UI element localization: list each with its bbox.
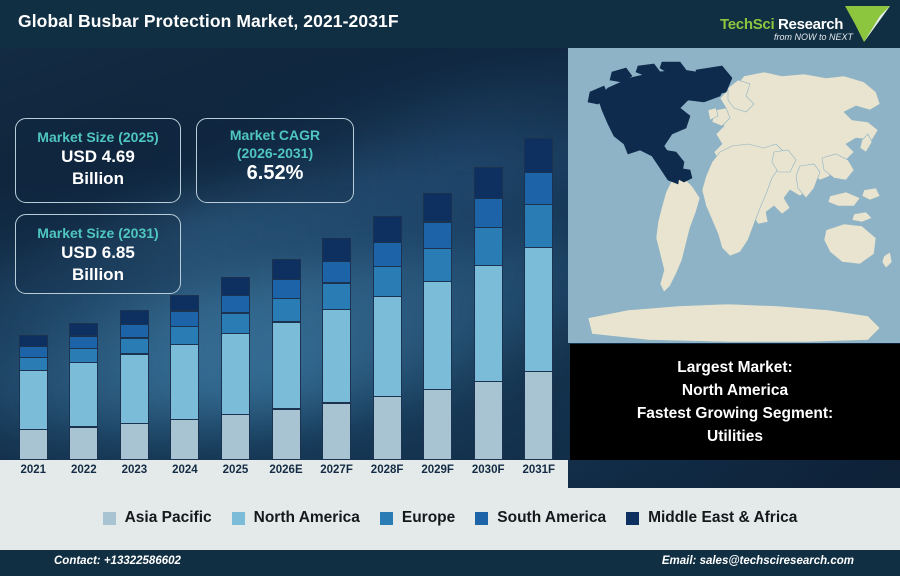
bar-segment-asia-pacific bbox=[272, 409, 301, 460]
world-map bbox=[568, 48, 900, 343]
footer-email: Email: sales@techsciresearch.com bbox=[662, 555, 854, 567]
stacked-bar bbox=[474, 168, 503, 460]
x-axis-tick: 2026E bbox=[261, 464, 312, 484]
bar-segment-south-america bbox=[170, 311, 199, 327]
bar-segment-south-america bbox=[474, 198, 503, 228]
bar-segment-europe bbox=[524, 204, 553, 248]
bar-segment-south-america bbox=[272, 279, 301, 299]
bar-segment-middle-east-africa bbox=[272, 259, 301, 280]
bar-segment-asia-pacific bbox=[170, 419, 199, 460]
bar-segment-north-america bbox=[474, 265, 503, 381]
bar-segment-south-america bbox=[120, 324, 149, 338]
infographic-root: Global Busbar Protection Market, 2021-20… bbox=[0, 0, 900, 576]
fastest-segment-value: Utilities bbox=[707, 425, 763, 448]
footer-bar: Contact: +13322586602 Email: sales@techs… bbox=[0, 550, 900, 576]
bar-segment-asia-pacific bbox=[524, 371, 553, 460]
techsci-research-logo: TechSci Research from NOW to NEXT bbox=[712, 2, 894, 46]
bar-segment-south-america bbox=[373, 242, 402, 267]
bar-segment-north-america bbox=[373, 296, 402, 397]
bar-segment-europe bbox=[170, 326, 199, 345]
legend-label: North America bbox=[254, 509, 360, 527]
bar-segment-north-america bbox=[272, 322, 301, 410]
stacked-bar bbox=[322, 238, 351, 460]
legend-swatch bbox=[380, 512, 393, 525]
stat-box-market-size-2025: Market Size (2025) USD 4.69 Billion bbox=[15, 118, 181, 203]
bar-column bbox=[513, 108, 564, 460]
x-axis-tick: 2025 bbox=[210, 464, 261, 484]
bar-segment-south-america bbox=[69, 336, 98, 349]
svg-text:from NOW to NEXT: from NOW to NEXT bbox=[774, 32, 855, 42]
bar-segment-europe bbox=[272, 298, 301, 322]
bar-segment-middle-east-africa bbox=[524, 138, 553, 173]
legend-item[interactable]: Middle East & Africa bbox=[626, 509, 797, 527]
bar-segment-asia-pacific bbox=[19, 429, 48, 460]
bar-segment-middle-east-africa bbox=[170, 295, 199, 312]
legend-swatch bbox=[626, 512, 639, 525]
legend-swatch bbox=[475, 512, 488, 525]
bar-column bbox=[412, 108, 463, 460]
page-title: Global Busbar Protection Market, 2021-20… bbox=[18, 11, 399, 32]
x-axis-tick: 2031F bbox=[513, 464, 564, 484]
stat-value-unit: Billion bbox=[16, 264, 180, 286]
bar-segment-europe bbox=[423, 248, 452, 282]
bar-segment-asia-pacific bbox=[322, 403, 351, 460]
legend-label: Europe bbox=[402, 509, 455, 527]
largest-market-label: Largest Market: bbox=[677, 356, 792, 379]
bar-segment-asia-pacific bbox=[423, 389, 452, 460]
legend-swatch bbox=[103, 512, 116, 525]
x-axis-tick: 2021 bbox=[8, 464, 59, 484]
x-axis-tick: 2024 bbox=[160, 464, 211, 484]
bar-segment-europe bbox=[120, 338, 149, 355]
x-axis-tick: 2027F bbox=[311, 464, 362, 484]
bar-segment-europe bbox=[221, 313, 250, 334]
bar-segment-north-america bbox=[221, 333, 250, 415]
x-axis-tick: 2029F bbox=[412, 464, 463, 484]
bar-column bbox=[362, 108, 413, 460]
stat-label: Market Size (2025) bbox=[16, 128, 180, 146]
bar-segment-north-america bbox=[120, 354, 149, 424]
bar-segment-north-america bbox=[423, 281, 452, 389]
stacked-bar bbox=[19, 336, 48, 460]
chart-legend: Asia PacificNorth AmericaEuropeSouth Ame… bbox=[0, 488, 900, 548]
largest-market-value: North America bbox=[682, 379, 788, 402]
bar-segment-south-america bbox=[221, 295, 250, 313]
stacked-bar bbox=[69, 324, 98, 460]
legend-label: Middle East & Africa bbox=[648, 509, 797, 527]
legend-item[interactable]: Asia Pacific bbox=[103, 509, 212, 527]
legend-item[interactable]: South America bbox=[475, 509, 606, 527]
bar-segment-europe bbox=[69, 348, 98, 363]
stat-value-unit: Billion bbox=[16, 168, 180, 190]
legend-item[interactable]: North America bbox=[232, 509, 360, 527]
footer-contact: Contact: +13322586602 bbox=[54, 555, 181, 567]
bar-segment-asia-pacific bbox=[221, 414, 250, 460]
header-bar: Global Busbar Protection Market, 2021-20… bbox=[0, 0, 900, 48]
stacked-bar bbox=[373, 217, 402, 460]
bar-segment-middle-east-africa bbox=[69, 323, 98, 336]
bar-segment-middle-east-africa bbox=[120, 310, 149, 325]
bar-segment-south-america bbox=[322, 261, 351, 283]
x-axis-labels: 202120222023202420252026E2027F2028F2029F… bbox=[8, 464, 564, 484]
stat-label-period: (2026-2031) bbox=[197, 144, 353, 162]
stacked-bar bbox=[221, 278, 250, 460]
stacked-bar bbox=[524, 138, 553, 460]
fastest-segment-label: Fastest Growing Segment: bbox=[637, 402, 833, 425]
bar-segment-middle-east-africa bbox=[322, 238, 351, 262]
stat-label: Market Size (2031) bbox=[16, 224, 180, 242]
stat-value: 6.52% bbox=[197, 162, 353, 184]
bar-segment-asia-pacific bbox=[69, 427, 98, 460]
bar-column bbox=[463, 108, 514, 460]
bar-segment-north-america bbox=[69, 362, 98, 427]
stat-box-market-cagr: Market CAGR (2026-2031) 6.52% bbox=[196, 118, 354, 203]
stat-box-market-size-2031: Market Size (2031) USD 6.85 Billion bbox=[15, 214, 181, 294]
bar-segment-south-america bbox=[19, 346, 48, 358]
stat-value: USD 6.85 bbox=[16, 242, 180, 264]
bar-segment-south-america bbox=[423, 222, 452, 249]
svg-text:Research: Research bbox=[778, 16, 843, 33]
bar-segment-north-america bbox=[524, 247, 553, 372]
bar-segment-middle-east-africa bbox=[373, 216, 402, 242]
key-findings-callout: Largest Market: North America Fastest Gr… bbox=[570, 344, 900, 460]
bar-segment-asia-pacific bbox=[120, 423, 149, 460]
x-axis-tick: 2023 bbox=[109, 464, 160, 484]
x-axis-tick: 2022 bbox=[59, 464, 110, 484]
bar-segment-europe bbox=[474, 227, 503, 266]
stat-label: Market CAGR bbox=[197, 126, 353, 144]
bar-segment-south-america bbox=[524, 172, 553, 204]
bar-segment-europe bbox=[373, 266, 402, 297]
bar-segment-middle-east-africa bbox=[474, 167, 503, 199]
stacked-bar bbox=[272, 259, 301, 460]
svg-text:TechSci: TechSci bbox=[720, 16, 774, 33]
bar-segment-north-america bbox=[322, 309, 351, 403]
bar-segment-middle-east-africa bbox=[221, 277, 250, 296]
bar-segment-middle-east-africa bbox=[423, 193, 452, 222]
legend-label: Asia Pacific bbox=[125, 509, 212, 527]
legend-item[interactable]: Europe bbox=[380, 509, 455, 527]
stacked-bar bbox=[120, 311, 149, 460]
bar-segment-north-america bbox=[19, 370, 48, 430]
bar-segment-asia-pacific bbox=[373, 396, 402, 460]
bar-segment-europe bbox=[322, 283, 351, 310]
stat-value: USD 4.69 bbox=[16, 146, 180, 168]
stacked-bar bbox=[170, 295, 199, 460]
x-axis-tick: 2030F bbox=[463, 464, 514, 484]
bar-segment-asia-pacific bbox=[474, 381, 503, 460]
x-axis-tick: 2028F bbox=[362, 464, 413, 484]
legend-swatch bbox=[232, 512, 245, 525]
bar-segment-north-america bbox=[170, 344, 199, 419]
stacked-bar bbox=[423, 194, 452, 460]
bar-segment-middle-east-africa bbox=[19, 335, 48, 347]
bar-segment-europe bbox=[19, 357, 48, 370]
legend-label: South America bbox=[497, 509, 606, 527]
